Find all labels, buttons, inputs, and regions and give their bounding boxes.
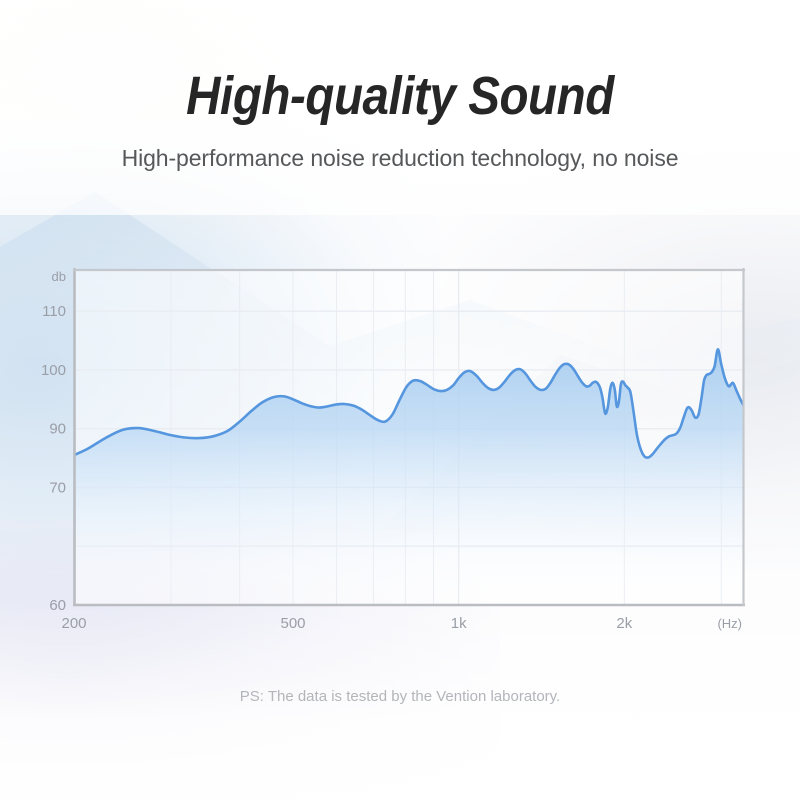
x-axis-unit-label: (Hz) — [717, 616, 742, 631]
y-axis-tick-label: 70 — [49, 480, 66, 497]
x-axis-tick-labels: 2005001k2k(Hz) — [61, 615, 742, 632]
y-axis-tick-label: 110 — [42, 303, 66, 320]
x-axis-tick-label: 1k — [451, 615, 467, 632]
x-axis-tick-label: 200 — [61, 615, 86, 632]
x-axis-tick-label: 500 — [280, 615, 305, 632]
y-axis-unit-label: db — [52, 269, 66, 284]
chart-footnote: PS: The data is tested by the Vention la… — [0, 688, 800, 705]
page-title: High-quality Sound — [48, 0, 752, 125]
y-axis-tick-label: 60 — [49, 597, 66, 614]
y-axis-tick-labels: 110100907060 — [41, 303, 66, 614]
y-axis-tick-label: 90 — [49, 421, 66, 438]
page-subtitle: High-performance noise reduction technol… — [0, 125, 800, 172]
x-axis-tick-label: 2k — [616, 615, 632, 632]
header: High-quality Sound High-performance nois… — [0, 0, 800, 172]
y-axis-tick-label: 100 — [41, 362, 66, 379]
